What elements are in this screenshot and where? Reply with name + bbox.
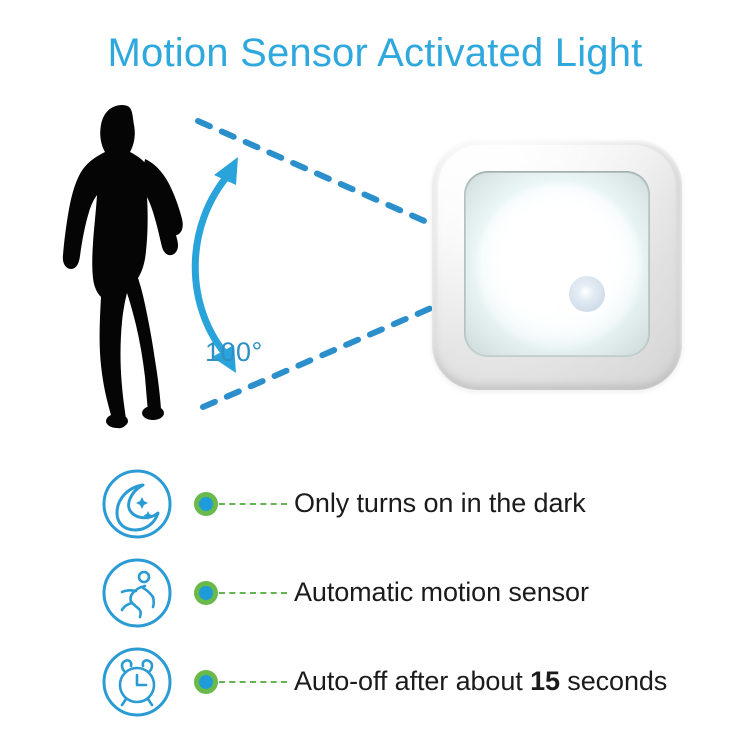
alarm-clock-icon: [101, 646, 173, 718]
detection-cone-and-angle-arrow: [170, 95, 440, 435]
device-light-panel: [466, 173, 648, 355]
bullet-connector-line: [219, 681, 287, 683]
bullet-core: [199, 586, 213, 600]
feature-label-text: Only turns on in the dark: [294, 488, 586, 518]
device-glow: [476, 183, 642, 349]
bullet-connector-line: [219, 592, 287, 594]
detection-diagram: 100°: [0, 95, 750, 435]
feature-row-motion: Automatic motion sensor: [0, 551, 750, 640]
feature-label-highlight: 15: [530, 666, 560, 696]
feature-row-dark: Only turns on in the dark: [0, 462, 750, 551]
bullet-marker: [194, 670, 218, 694]
feature-label: Auto-off after about 15 seconds: [294, 664, 667, 698]
feature-label-text: Auto-off after about: [294, 666, 530, 696]
bullet-marker: [194, 492, 218, 516]
feature-label-text: Automatic motion sensor: [294, 577, 589, 607]
night-light-device: [432, 140, 682, 390]
feature-label-suffix: seconds: [560, 666, 667, 696]
product-infographic: Motion Sensor Activated Light 100°: [0, 0, 750, 750]
feature-label: Automatic motion sensor: [294, 575, 589, 609]
feature-row-auto-off: Auto-off after about 15 seconds: [0, 640, 750, 729]
running-person-icon: [101, 557, 173, 629]
angle-arc: [195, 173, 230, 357]
page-title: Motion Sensor Activated Light: [0, 29, 750, 77]
bullet-core: [199, 497, 213, 511]
pir-sensor-dome-icon: [569, 276, 605, 312]
feature-list: Only turns on in the dark Automatic moti…: [0, 462, 750, 729]
bullet-connector-line: [219, 503, 287, 505]
moon-stars-icon: [101, 468, 173, 540]
pir-sensor-core: [579, 286, 595, 302]
angle-label: 100°: [205, 337, 263, 367]
bullet-marker: [194, 581, 218, 605]
bullet-core: [199, 675, 213, 689]
feature-label: Only turns on in the dark: [294, 486, 586, 520]
device-panel-frame: [464, 171, 650, 357]
